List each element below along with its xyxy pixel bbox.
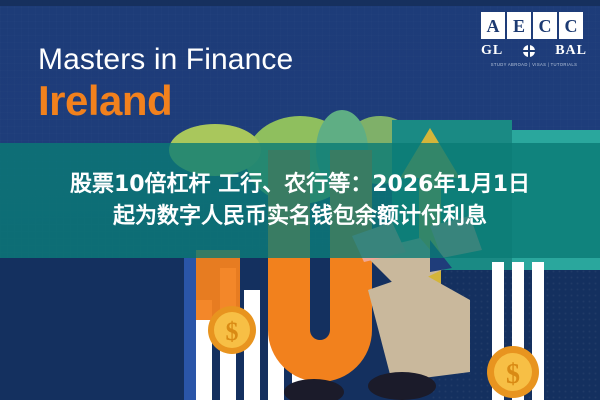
caption-band: 股票10倍杠杆 工行、农行等：2026年1月1日 起为数字人民币实名钱包余额计付… xyxy=(0,143,600,258)
logo-wordmark: GL BAL xyxy=(481,43,587,59)
poster-headline-line2: Ireland xyxy=(38,80,378,122)
logo-letter-boxes: A E C C xyxy=(481,12,587,39)
logo-letter-c2: C xyxy=(559,12,583,39)
caption-line-1: 股票10倍杠杆 工行、农行等：2026年1月1日 xyxy=(70,169,530,200)
globe-icon xyxy=(523,45,535,57)
logo-tagline: STUDY ABROAD | VISAS | TUTORIALS xyxy=(481,62,587,67)
aecc-global-logo: A E C C GL BAL STUDY ABROAD | VISAS | TU… xyxy=(481,12,587,67)
poster-headline: Masters in Finance Ireland xyxy=(38,44,378,122)
logo-letter-e: E xyxy=(507,12,531,39)
caption-line-2: 起为数字人民币实名钱包余额计付利息 xyxy=(113,201,487,232)
poster-headline-line1: Masters in Finance xyxy=(38,44,378,76)
logo-letter-c1: C xyxy=(533,12,557,39)
top-edge-strip xyxy=(0,0,600,6)
logo-wordmark-left: GL xyxy=(481,43,503,59)
poster-screenshot: $ $ Masters in Finance Ireland A E C C G… xyxy=(0,0,600,400)
logo-letter-a: A xyxy=(481,12,505,39)
logo-wordmark-right: BAL xyxy=(555,43,587,59)
